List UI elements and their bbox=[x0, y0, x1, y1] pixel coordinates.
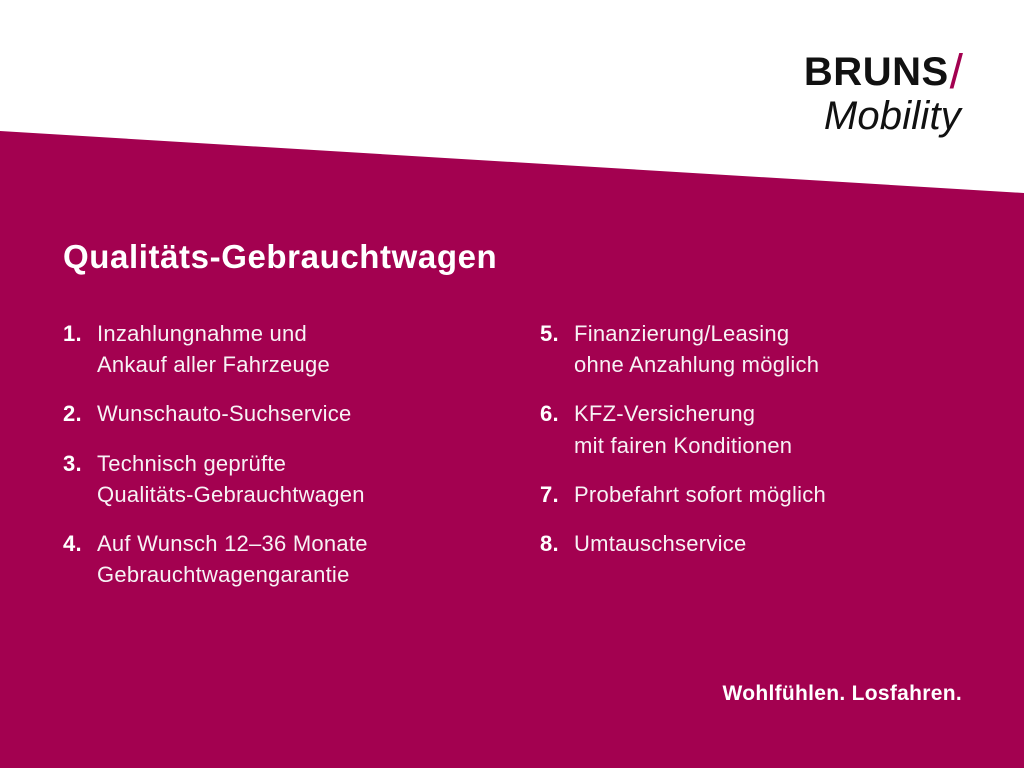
list-item-number: 2. bbox=[63, 398, 97, 429]
logo-brand-text: BRUNS bbox=[804, 50, 949, 94]
brand-tagline: Wohlfühlen. Losfahren. bbox=[722, 682, 962, 706]
list-item-text: KFZ-Versicherung mit fairen Konditionen bbox=[574, 398, 980, 460]
list-item-text: Probefahrt sofort möglich bbox=[574, 479, 980, 510]
logo-wordmark: BRUNS/ bbox=[804, 46, 962, 94]
list-item: 4. Auf Wunsch 12–36 Monate Gebrauchtwage… bbox=[63, 528, 523, 590]
list-item: 6. KFZ-Versicherung mit fairen Kondition… bbox=[540, 398, 980, 460]
list-item-number: 4. bbox=[63, 528, 97, 559]
list-item-text: Inzahlungnahme und Ankauf aller Fahrzeug… bbox=[97, 318, 523, 380]
list-item: 8. Umtauschservice bbox=[540, 528, 980, 559]
list-item-text: Finanzierung/Leasing ohne Anzahlung mögl… bbox=[574, 318, 980, 380]
list-item-line: Inzahlungnahme und bbox=[97, 318, 523, 349]
benefits-column-right: 5. Finanzierung/Leasing ohne Anzahlung m… bbox=[540, 318, 980, 577]
list-item-line: Gebrauchtwagengarantie bbox=[97, 559, 523, 590]
list-item-line: Technisch geprüfte bbox=[97, 448, 523, 479]
list-item-text: Wunschauto-Suchservice bbox=[97, 398, 523, 429]
list-item: 2. Wunschauto-Suchservice bbox=[63, 398, 523, 429]
list-item: 1. Inzahlungnahme und Ankauf aller Fahrz… bbox=[63, 318, 523, 380]
page-title: Qualitäts-Gebrauchtwagen bbox=[63, 238, 497, 276]
list-item-line: mit fairen Konditionen bbox=[574, 430, 980, 461]
list-item-number: 3. bbox=[63, 448, 97, 479]
list-item-line: Auf Wunsch 12–36 Monate bbox=[97, 528, 523, 559]
list-item-line: Finanzierung/Leasing bbox=[574, 318, 980, 349]
list-item-number: 6. bbox=[540, 398, 574, 429]
list-item: 7. Probefahrt sofort möglich bbox=[540, 479, 980, 510]
list-item-line: Ankauf aller Fahrzeuge bbox=[97, 349, 523, 380]
list-item: 3. Technisch geprüfte Qualitäts-Gebrauch… bbox=[63, 448, 523, 510]
slide-canvas: BRUNS/ Mobility Qualitäts-Gebrauchtwagen… bbox=[0, 0, 1024, 768]
list-item-number: 7. bbox=[540, 479, 574, 510]
brand-logo: BRUNS/ Mobility bbox=[804, 46, 962, 136]
list-item-line: Qualitäts-Gebrauchtwagen bbox=[97, 479, 523, 510]
list-item-line: Wunschauto-Suchservice bbox=[97, 398, 523, 429]
logo-slash-icon: / bbox=[950, 46, 963, 99]
list-item-line: ohne Anzahlung möglich bbox=[574, 349, 980, 380]
list-item-number: 5. bbox=[540, 318, 574, 349]
list-item: 5. Finanzierung/Leasing ohne Anzahlung m… bbox=[540, 318, 980, 380]
logo-subtitle: Mobility bbox=[804, 96, 961, 136]
list-item-text: Umtauschservice bbox=[574, 528, 980, 559]
list-item-number: 8. bbox=[540, 528, 574, 559]
list-item-line: Umtauschservice bbox=[574, 528, 980, 559]
list-item-line: KFZ-Versicherung bbox=[574, 398, 980, 429]
list-item-line: Probefahrt sofort möglich bbox=[574, 479, 980, 510]
benefits-column-left: 1. Inzahlungnahme und Ankauf aller Fahrz… bbox=[63, 318, 523, 609]
list-item-text: Auf Wunsch 12–36 Monate Gebrauchtwagenga… bbox=[97, 528, 523, 590]
list-item-number: 1. bbox=[63, 318, 97, 349]
list-item-text: Technisch geprüfte Qualitäts-Gebrauchtwa… bbox=[97, 448, 523, 510]
